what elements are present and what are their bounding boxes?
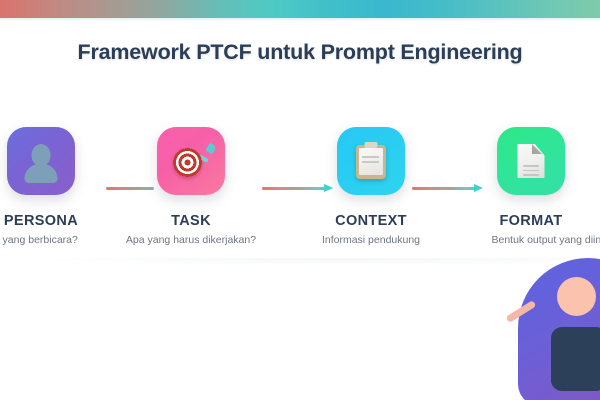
row-shadow — [0, 258, 600, 266]
step-label-format: FORMAT — [456, 213, 600, 229]
step-description-context: Informasi pendukung — [296, 234, 446, 246]
step-description-format: Bentuk output yang diingink — [481, 234, 600, 246]
step-format[interactable]: FORMAT Bentuk output yang diingink — [456, 127, 600, 246]
clipboard-clamp-icon — [365, 142, 378, 148]
context-icon-tile[interactable] — [337, 127, 405, 195]
dart-fletching-icon — [205, 143, 216, 155]
person-icon-body — [25, 164, 58, 183]
step-context[interactable]: CONTEXT Informasi pendukung — [296, 127, 446, 246]
persona-icon-tile[interactable] — [7, 127, 75, 195]
step-description-persona: apa yang berbicara? — [0, 234, 105, 246]
step-label-task: TASK — [116, 213, 266, 229]
presenter-torso — [551, 327, 600, 391]
presenter-figure — [518, 258, 600, 400]
document-lines-icon — [523, 165, 539, 174]
page-title: Framework PTCF untuk Prompt Engineering — [0, 40, 600, 65]
decorative-gradient-bar — [0, 0, 600, 18]
ptcf-steps-row: PERSONA apa yang berbicara? TASK Apa yan… — [0, 127, 600, 257]
person-icon — [32, 144, 51, 166]
target-dart-icon — [173, 148, 202, 177]
step-label-context: CONTEXT — [296, 213, 446, 229]
document-fold-icon — [532, 144, 542, 154]
task-icon-tile[interactable] — [157, 127, 225, 195]
step-description-task: Apa yang harus dikerjakan? — [116, 234, 266, 246]
step-task[interactable]: TASK Apa yang harus dikerjakan? — [116, 127, 266, 246]
format-icon-tile[interactable] — [497, 127, 565, 195]
step-label-persona: PERSONA — [0, 213, 116, 229]
step-persona[interactable]: PERSONA apa yang berbicara? — [0, 127, 116, 246]
clipboard-paper-icon — [359, 148, 383, 175]
presenter-head — [557, 277, 596, 316]
